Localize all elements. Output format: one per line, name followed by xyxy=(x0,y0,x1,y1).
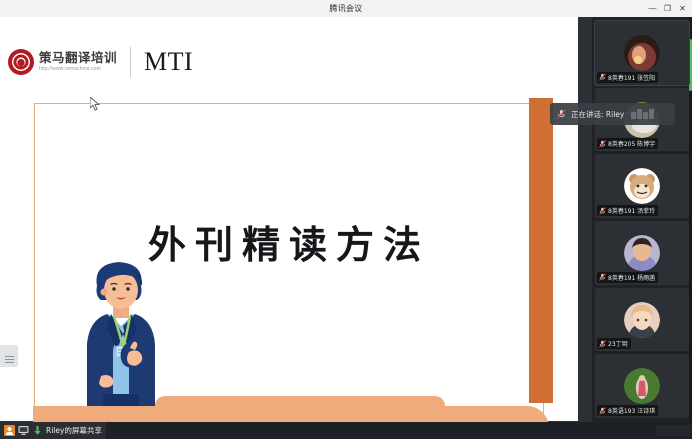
brand-url: http://www.cemachina.com xyxy=(39,66,117,72)
participant-name: 8英语193 汪诗琪 xyxy=(608,406,655,415)
audio-wave-icon xyxy=(631,109,654,119)
panel-list-icon xyxy=(5,356,14,357)
brand-text-block: 策马翻译培训 http://www.cemachina.com xyxy=(39,52,117,73)
brand-name-cn: 策马翻译培训 xyxy=(39,52,117,65)
mic-muted-icon xyxy=(599,140,606,148)
brand-logo: 策马翻译培训 http://www.cemachina.com MTI xyxy=(8,47,193,77)
participant-rail[interactable]: 8英春191 张笠阳8英春205 陈博宇8英春191 汤菲玲8英春191 杨雨菡… xyxy=(592,17,692,422)
avatar xyxy=(624,302,660,338)
taskbar: Riley的屏幕共享 xyxy=(0,422,692,439)
mic-muted-icon xyxy=(599,340,606,348)
mouse-cursor-icon xyxy=(90,97,100,111)
shared-screen-stage[interactable]: 策马翻译培训 http://www.cemachina.com MTI 外刊精读… xyxy=(0,17,592,422)
presenter-illustration xyxy=(73,256,169,406)
logo-divider xyxy=(130,47,131,77)
participant-label: 8英语193 汪诗琪 xyxy=(597,405,658,416)
presentation-header: 策马翻译培训 http://www.cemachina.com MTI xyxy=(0,17,578,79)
mic-muted-icon xyxy=(599,207,606,215)
maximize-button[interactable]: ❐ xyxy=(660,0,675,17)
participant-label: 8英春191 杨雨菡 xyxy=(597,272,658,283)
window-title: 腾讯会议 xyxy=(329,3,362,14)
mic-muted-icon xyxy=(599,73,606,81)
participant-label: 8英春191 张笠阳 xyxy=(597,72,658,83)
participant-name: 8英春205 陈博宇 xyxy=(608,139,655,148)
download-arrow-icon xyxy=(32,425,43,436)
window-controls: — ❐ ✕ xyxy=(645,0,690,17)
brand-mti: MTI xyxy=(144,49,193,75)
participant-name: 8英春191 张笠阳 xyxy=(608,73,655,82)
participant-tile[interactable]: 8英春191 杨雨菡 xyxy=(595,221,689,285)
participant-tile[interactable]: 8英语193 汪诗琪 xyxy=(595,354,689,418)
title-bar: 腾讯会议 — ❐ ✕ xyxy=(0,0,692,17)
tencent-meeting-window: 腾讯会议 — ❐ ✕ 策马翻译培训 http://www.cemachina.c… xyxy=(0,0,692,439)
seal-icon xyxy=(8,49,34,75)
mic-muted-icon xyxy=(599,407,606,415)
mic-muted-icon xyxy=(599,273,606,281)
minimize-button[interactable]: — xyxy=(645,0,660,17)
active-speaker-text: 正在讲话: Riley xyxy=(571,109,624,120)
avatar xyxy=(624,168,660,204)
participant-tile[interactable]: 8英春191 汤菲玲 xyxy=(595,154,689,218)
participant-name: 23丁玥 xyxy=(608,339,628,348)
participant-label: 8英春205 陈博宇 xyxy=(597,138,658,149)
slide-band-notch xyxy=(155,396,445,406)
avatar xyxy=(624,35,660,71)
side-panel-toggle[interactable] xyxy=(0,345,18,367)
participant-label: 23丁玥 xyxy=(597,338,631,349)
taskbar-share-label: Riley的屏幕共享 xyxy=(46,425,102,436)
active-speaker-toast: 正在讲话: Riley xyxy=(550,103,675,125)
mic-muted-icon xyxy=(557,109,566,119)
monitor-icon xyxy=(18,425,29,436)
shared-presentation: 策马翻译培训 http://www.cemachina.com MTI 外刊精读… xyxy=(0,17,578,421)
slide-frame: 外刊精读方法 xyxy=(34,103,544,422)
avatar xyxy=(624,235,660,271)
slide-bottom-band xyxy=(33,406,549,422)
taskbar-tray[interactable] xyxy=(656,425,690,436)
avatar xyxy=(624,368,660,404)
participant-tile[interactable]: 8英春191 张笠阳 xyxy=(595,21,689,85)
participant-tile[interactable]: 23丁玥 xyxy=(595,288,689,352)
close-button[interactable]: ✕ xyxy=(675,0,690,17)
participant-name: 8英春191 汤菲玲 xyxy=(608,206,655,215)
participant-name: 8英春191 杨雨菡 xyxy=(608,273,655,282)
participant-label: 8英春191 汤菲玲 xyxy=(597,205,658,216)
user-orange-icon xyxy=(4,425,15,436)
taskbar-share-item[interactable]: Riley的屏幕共享 xyxy=(0,422,106,439)
